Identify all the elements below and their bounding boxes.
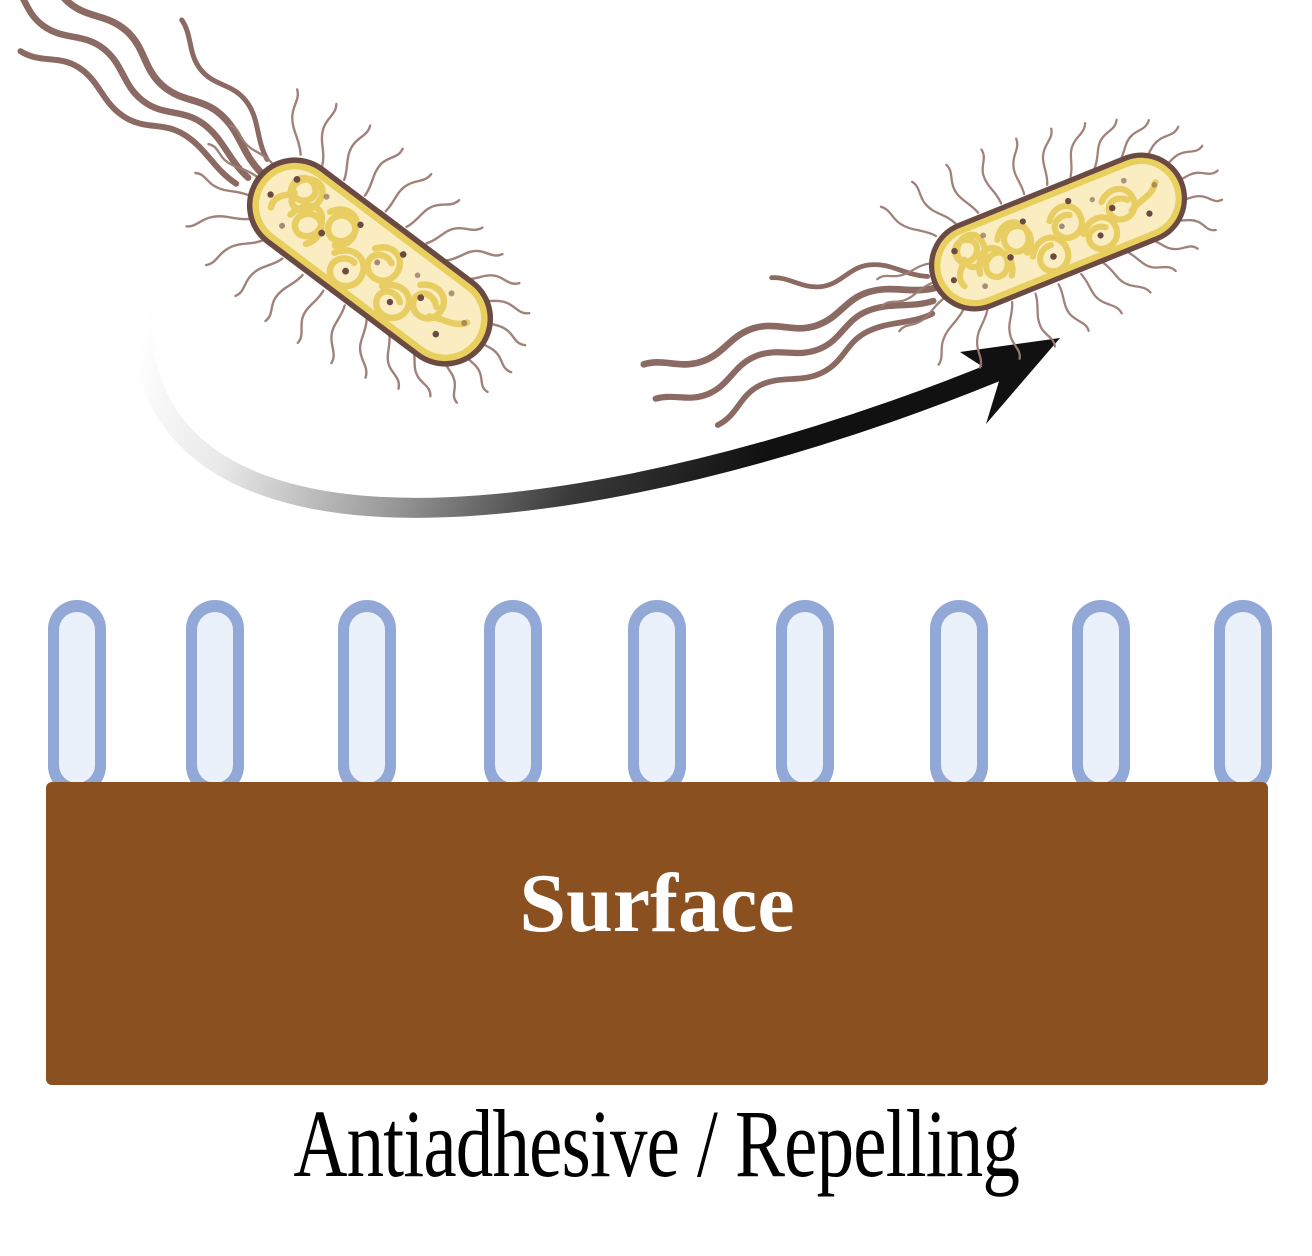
- pillar: [484, 600, 542, 795]
- pillar: [186, 600, 244, 795]
- surface-block: [46, 782, 1268, 1085]
- antiadhesive-surface-figure: [0, 0, 1312, 1256]
- pillar: [930, 600, 988, 795]
- pillar: [776, 600, 834, 795]
- pillar: [1072, 600, 1130, 795]
- pillar-array: [48, 600, 1272, 795]
- pillar: [338, 600, 396, 795]
- pillar: [48, 600, 106, 795]
- pillar: [1214, 600, 1272, 795]
- pillar: [628, 600, 686, 795]
